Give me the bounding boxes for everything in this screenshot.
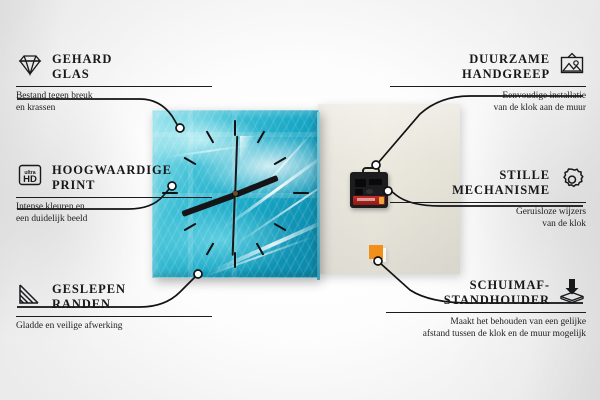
wire-endpoint-schuimaf-standhouder (374, 257, 382, 265)
wire-endpoint-duurzame-handgreep (372, 161, 380, 169)
feature-divider (390, 86, 586, 87)
feature-desc-line1: Bestand tegen breuk (16, 91, 212, 103)
press-down-pad-icon (558, 276, 586, 304)
feature-description: Maakt het behouden van een gelijke afsta… (386, 317, 586, 340)
feature-desc-line2: van de klok (390, 219, 586, 231)
feature-description: Geruisloze wijzers van de klok (390, 207, 586, 230)
feature-schuimaf-standhouder: SCHUIMAF- STANDHOUDER Maakt het behouden… (386, 278, 586, 340)
gear-icon (558, 166, 586, 194)
feature-divider (16, 316, 212, 317)
feature-desc-line1: Eenvoudige installatie (390, 91, 586, 103)
feature-hoogwaardige-print: ultra HD HOOGWAARDIGE PRINT Intense kleu… (16, 163, 212, 225)
feature-duurzame-handgreep: DUURZAME HANDGREEP Eenvoudige installati… (390, 52, 586, 114)
wire-endpoint-geslepen-randen (194, 270, 202, 278)
feature-divider (16, 86, 212, 87)
feature-title-line1: HOOGWAARDIGE (52, 163, 172, 178)
feature-title: SCHUIMAF- STANDHOUDER (444, 278, 550, 308)
feature-desc-line2: afstand tussen de klok en de muur mogeli… (386, 329, 586, 341)
ultra-hd-icon-bottom-text: HD (23, 174, 37, 185)
feature-description: Bestand tegen breuk en krassen (16, 91, 212, 114)
feature-title-line1: SCHUIMAF- (444, 278, 550, 293)
feature-title: GESLEPEN RANDEN (52, 282, 126, 312)
feature-title: HOOGWAARDIGE PRINT (52, 163, 172, 193)
feature-title-line1: DUURZAME (462, 52, 550, 67)
feature-title-line1: STILLE (452, 168, 550, 183)
feature-desc-line1: Geruisloze wijzers (390, 207, 586, 219)
feature-divider (386, 312, 586, 313)
wire-endpoint-gehard-glas (176, 124, 184, 132)
diamond-icon (16, 50, 44, 78)
feature-description: Eenvoudige installatie van de klok aan d… (390, 91, 586, 114)
feature-divider (390, 202, 586, 203)
product-infographic: GEHARD GLAS Bestand tegen breuk en krass… (0, 0, 600, 400)
feature-title: DUURZAME HANDGREEP (462, 52, 550, 82)
feature-description: Gladde en veilige afwerking (16, 321, 212, 333)
picture-frame-icon (558, 50, 586, 78)
feature-title-line2: GLAS (52, 67, 112, 82)
ultra-hd-icon: ultra HD (16, 161, 44, 189)
feature-title-line2: PRINT (52, 178, 172, 193)
feature-desc-line1: Maakt het behouden van een gelijke (386, 317, 586, 329)
feature-description: Intense kleuren en een duidelijk beeld (16, 202, 212, 225)
feature-desc-line2: een duidelijk beeld (16, 214, 212, 226)
feature-title-line2: STANDHOUDER (444, 293, 550, 308)
feature-geslepen-randen: GESLEPEN RANDEN Gladde en veilige afwerk… (16, 282, 212, 333)
feature-divider (16, 197, 212, 198)
feature-desc-line1: Gladde en veilige afwerking (16, 321, 212, 333)
feature-title-line2: MECHANISME (452, 183, 550, 198)
feature-title: GEHARD GLAS (52, 52, 112, 82)
feature-title-line1: GESLEPEN (52, 282, 126, 297)
feature-gehard-glas: GEHARD GLAS Bestand tegen breuk en krass… (16, 52, 212, 114)
bevelled-edge-icon (16, 280, 44, 308)
feature-title-line2: RANDEN (52, 297, 126, 312)
feature-stille-mechanisme: STILLE MECHANISME Geruisloze wijzers van… (390, 168, 586, 230)
feature-title-line1: GEHARD (52, 52, 112, 67)
feature-desc-line2: en krassen (16, 103, 212, 115)
feature-title-line2: HANDGREEP (462, 67, 550, 82)
feature-desc-line1: Intense kleuren en (16, 202, 212, 214)
feature-title: STILLE MECHANISME (452, 168, 550, 198)
feature-desc-line2: van de klok aan de muur (390, 103, 586, 115)
